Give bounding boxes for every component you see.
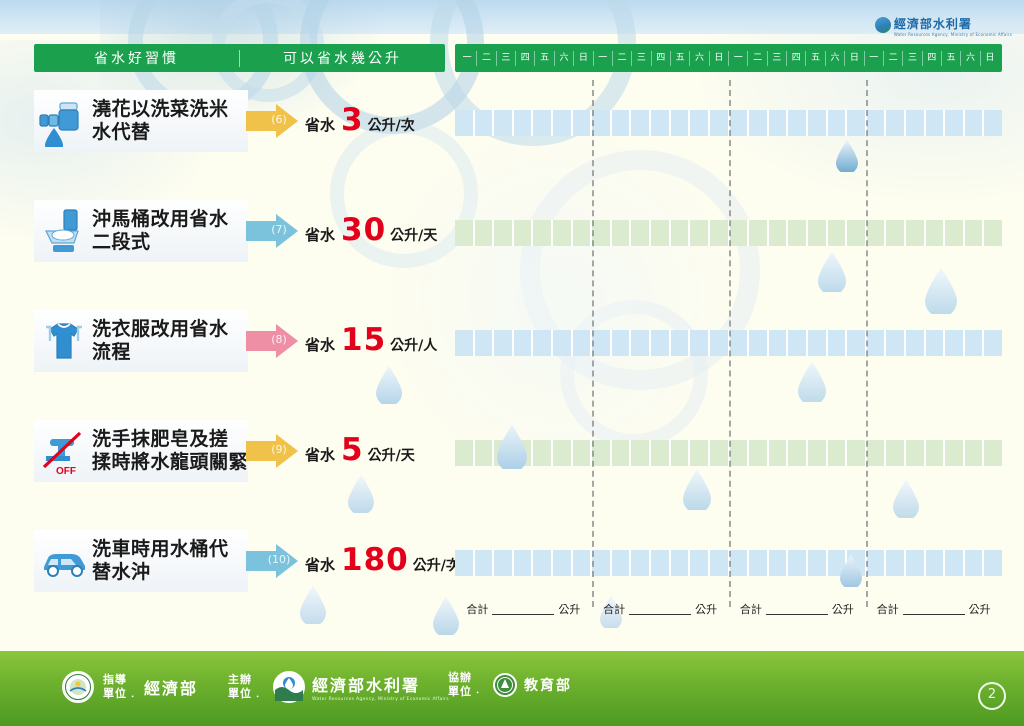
calendar-day-cell[interactable] (730, 330, 750, 356)
calendar-day-cell[interactable] (690, 110, 710, 136)
saving-label: 省水 (305, 224, 335, 245)
footer-separator: ． (255, 685, 266, 703)
total-label: 合計 (603, 601, 625, 617)
calendar-day-cell[interactable] (769, 110, 789, 136)
habit-item-label: 澆花以洗菜洗米水代替 (92, 98, 229, 144)
calendar-day-cell[interactable] (749, 550, 769, 576)
calendar-day-cell[interactable] (514, 330, 534, 356)
header-col-habit: 省水好習慣 (34, 48, 239, 68)
total-field: 合計公升 (865, 598, 1002, 620)
wra-logo: 經濟部水利署 Water Resources Agency, Ministry … (875, 14, 1012, 36)
calendar-day-cell[interactable] (573, 440, 593, 466)
calendar-weekday-label: 四 (923, 51, 942, 66)
toilet-icon (38, 205, 90, 257)
calendar-day-cell[interactable] (671, 110, 691, 136)
calendar-day-cell[interactable] (847, 440, 867, 466)
calendar-day-cell[interactable] (906, 110, 926, 136)
total-input-line[interactable] (903, 604, 965, 615)
habit-item-label-line2: 替水沖 (92, 561, 229, 584)
page-footer: 指導 單位 ． 經濟部 主辦 單位 ． 經濟部水利署 (0, 651, 1024, 726)
calendar-weekday-label: 五 (535, 51, 554, 66)
calendar-day-cell[interactable] (455, 110, 475, 136)
calendar-day-cell[interactable] (906, 220, 926, 246)
footer-org-moe: 教育部 (524, 675, 572, 695)
calendar-day-cell[interactable] (573, 330, 593, 356)
faucet-off-icon: OFF (38, 425, 90, 477)
tshirt-laundry-icon (38, 315, 90, 367)
calendar-day-cell[interactable] (906, 330, 926, 356)
calendar-day-cell[interactable] (906, 550, 926, 576)
calendar-day-cell[interactable] (671, 550, 691, 576)
calendar-day-cell[interactable] (808, 110, 828, 136)
calendar-day-cell[interactable] (788, 330, 808, 356)
calendar-day-cell[interactable] (965, 440, 985, 466)
habit-item-label: 洗手抹肥皂及搓揉時將水龍頭關緊 (92, 428, 248, 474)
week-separator-1 (592, 80, 594, 607)
calendar-day-cell[interactable] (867, 550, 887, 576)
calendar-weekday-label: 三 (768, 51, 787, 66)
moea-seal-icon (62, 671, 94, 703)
saving-unit: 公升/次 (413, 555, 460, 575)
calendar-day-cell[interactable] (553, 550, 573, 576)
calendar-day-cell[interactable] (847, 220, 867, 246)
calendar-day-cell[interactable] (886, 550, 906, 576)
calendar-day-cell[interactable] (926, 220, 946, 246)
habit-item-label: 洗衣服改用省水流程 (92, 318, 229, 364)
calendar-day-cell[interactable] (455, 220, 475, 246)
calendar-day-cell[interactable] (730, 110, 750, 136)
calendar-weekday-label: 日 (845, 51, 864, 66)
table-header-left: 省水好習慣 可以省水幾公升 (34, 44, 445, 72)
calendar-day-cell[interactable] (945, 440, 965, 466)
calendar-day-cell[interactable] (475, 550, 495, 576)
calendar-day-cell[interactable] (494, 220, 514, 246)
saving-value: 30 (341, 212, 386, 248)
footer-role-line1: 主辦 (228, 673, 252, 687)
calendar-day-cell[interactable] (867, 440, 887, 466)
calendar-day-cell[interactable] (631, 550, 651, 576)
calendar-day-cell[interactable] (671, 440, 691, 466)
calendar-day-cell[interactable] (533, 440, 553, 466)
calendar-day-cell[interactable] (965, 220, 985, 246)
saving-label: 省水 (305, 334, 335, 355)
calendar-day-cell[interactable] (631, 110, 651, 136)
total-input-line[interactable] (766, 604, 828, 615)
calendar-day-cell[interactable] (788, 440, 808, 466)
footer-org-wra: 經濟部水利署 (312, 672, 449, 696)
calendar-day-cell[interactable] (573, 110, 593, 136)
calendar-weekday-label: 三 (497, 51, 516, 66)
calendar-day-cell[interactable] (651, 550, 671, 576)
calendar-weekday-label: 二 (477, 51, 496, 66)
wra-seal-icon (273, 671, 305, 703)
calendar-day-cell[interactable] (671, 220, 691, 246)
calendar-day-cell[interactable] (867, 330, 887, 356)
page-canvas: 省水好習慣 可以省水幾公升 一二三四五六日一二三四五六日一二三四五六日一二三四五… (0, 0, 1024, 726)
calendar-day-cell[interactable] (651, 220, 671, 246)
saving-value: 15 (341, 322, 386, 358)
calendar-day-cell[interactable] (886, 110, 906, 136)
calendar-day-cell[interactable] (553, 110, 573, 136)
saving-unit: 公升/次 (368, 115, 415, 135)
calendar-day-cell[interactable] (730, 550, 750, 576)
footer-role-line2: 單位 (103, 687, 127, 701)
calendar-day-cell[interactable] (886, 220, 906, 246)
calendar-weekday-label: 一 (458, 51, 477, 66)
footer-group-host: 主辦 單位 ． 經濟部水利署 Water Resources Agency, M… (228, 671, 449, 703)
saving-amount: 省水180公升/次 (305, 542, 460, 580)
calendar-day-cell[interactable] (533, 550, 553, 576)
habit-arrow: (6) (246, 104, 298, 138)
calendar-day-cell[interactable] (828, 440, 848, 466)
calendar-day-cell[interactable] (769, 220, 789, 246)
calendar-day-cell[interactable] (926, 110, 946, 136)
calendar-day-cell[interactable] (592, 110, 612, 136)
footer-role-line2: 單位 (448, 685, 472, 699)
habit-item-box: 洗車時用水桶代替水沖 (34, 530, 248, 592)
habit-item-label-line1: 沖馬桶改用省水 (92, 208, 229, 231)
total-field: 合計公升 (455, 598, 592, 620)
footer-role-line1: 指導 (103, 673, 127, 687)
footer-group-coorg: 協辦 單位 ． 教育部 (448, 671, 572, 699)
habit-index-number: (8) (262, 333, 296, 346)
calendar-weekday-label: 日 (574, 51, 593, 66)
calendar-day-cell[interactable] (612, 550, 632, 576)
calendar-day-cell[interactable] (926, 330, 946, 356)
calendar-day-cell[interactable] (651, 110, 671, 136)
calendar-day-cell[interactable] (514, 550, 534, 576)
habit-item-label-line2: 流程 (92, 341, 229, 364)
calendar-day-cell[interactable] (475, 330, 495, 356)
calendar-weekday-label: 日 (710, 51, 729, 66)
calendar-day-cell[interactable] (945, 550, 965, 576)
calendar-weekday-label: 日 (981, 51, 999, 66)
calendar-day-cell[interactable] (631, 330, 651, 356)
total-unit: 公升 (969, 601, 991, 617)
calendar-day-cell[interactable] (475, 440, 495, 466)
footer-group-guidance: 指導 單位 ． 經濟部 (62, 671, 198, 703)
calendar-weekday-label: 五 (671, 51, 690, 66)
calendar-day-cell[interactable] (494, 110, 514, 136)
week-separator-3 (866, 80, 868, 607)
calendar-day-cell[interactable] (612, 220, 632, 246)
habit-item-label-line1: 洗車時用水桶代 (92, 538, 229, 561)
calendar-day-cell[interactable] (984, 550, 1002, 576)
calendar-day-cell[interactable] (612, 440, 632, 466)
calendar-weekday-label: 六 (690, 51, 709, 66)
calendar-day-cell[interactable] (788, 550, 808, 576)
calendar-day-cell[interactable] (553, 330, 573, 356)
habit-item-label: 洗車時用水桶代替水沖 (92, 538, 229, 584)
calendar-day-cell[interactable] (533, 110, 553, 136)
calendar-day-cell[interactable] (475, 110, 495, 136)
calendar-day-cell[interactable] (612, 330, 632, 356)
calendar-day-cell[interactable] (984, 440, 1002, 466)
habit-row: OFF洗手抹肥皂及搓揉時將水龍頭關緊(9)省水5公升/天 (0, 410, 1024, 520)
header-col-amount: 可以省水幾公升 (240, 48, 445, 68)
calendar-day-cell[interactable] (533, 220, 553, 246)
calendar-day-cell[interactable] (631, 440, 651, 466)
calendar-day-cell[interactable] (690, 220, 710, 246)
calendar-day-cell[interactable] (984, 110, 1002, 136)
moe-seal-icon (493, 673, 517, 697)
footer-separator: ． (130, 685, 141, 703)
footer-role-line1: 協辦 (448, 671, 472, 685)
calendar-day-cell[interactable] (788, 110, 808, 136)
calendar-day-cell[interactable] (651, 440, 671, 466)
calendar-day-cell[interactable] (592, 330, 612, 356)
calendar-day-cell[interactable] (710, 440, 730, 466)
calendar-day-cell[interactable] (788, 220, 808, 246)
total-unit: 公升 (558, 601, 580, 617)
calendar-day-cell[interactable] (965, 110, 985, 136)
total-label: 合計 (466, 601, 488, 617)
calendar-day-cell[interactable] (592, 220, 612, 246)
calendar-day-cell[interactable] (592, 550, 612, 576)
total-unit: 公升 (695, 601, 717, 617)
habit-item-label-line1: 洗手抹肥皂及搓 (92, 428, 248, 451)
calendar-day-cell[interactable] (847, 110, 867, 136)
calendar-day-cell[interactable] (847, 550, 867, 576)
calendar-day-cell[interactable] (612, 110, 632, 136)
calendar-day-cell[interactable] (710, 110, 730, 136)
calendar-weekday-label: 四 (516, 51, 535, 66)
footer-org-moea: 經濟部 (144, 675, 198, 699)
calendar-day-cell[interactable] (494, 550, 514, 576)
calendar-day-cell[interactable] (749, 220, 769, 246)
calendar-day-cell[interactable] (553, 440, 573, 466)
calendar-header: 一二三四五六日一二三四五六日一二三四五六日一二三四五六日 (455, 44, 1002, 72)
calendar-day-cell[interactable] (730, 220, 750, 246)
calendar-day-cell[interactable] (886, 440, 906, 466)
calendar-day-cell[interactable] (828, 330, 848, 356)
calendar-day-cell[interactable] (749, 330, 769, 356)
saving-unit: 公升/天 (368, 445, 415, 465)
saving-value: 180 (341, 542, 409, 578)
svg-text:OFF: OFF (56, 466, 76, 477)
habit-item-box: 洗衣服改用省水流程 (34, 310, 248, 372)
calendar-day-cell[interactable] (514, 110, 534, 136)
habit-item-box: 澆花以洗菜洗米水代替 (34, 90, 248, 152)
calendar-day-cell[interactable] (847, 330, 867, 356)
page-number: 2 (978, 682, 1006, 710)
calendar-day-cell[interactable] (455, 330, 475, 356)
habit-index-number: (9) (262, 443, 296, 456)
saving-label: 省水 (305, 554, 335, 575)
calendar-day-cell[interactable] (631, 220, 651, 246)
total-input-line[interactable] (492, 604, 554, 615)
calendar-day-cell[interactable] (749, 110, 769, 136)
habit-arrow: (9) (246, 434, 298, 468)
calendar-weekday-label: 六 (826, 51, 845, 66)
habit-item-label-line2: 水代替 (92, 121, 229, 144)
habit-index-number: (10) (262, 553, 296, 566)
total-label: 合計 (877, 601, 899, 617)
calendar-weekday-label: 四 (652, 51, 671, 66)
calendar-day-cell[interactable] (808, 330, 828, 356)
habit-item-box: OFF洗手抹肥皂及搓揉時將水龍頭關緊 (34, 420, 248, 482)
footer-role-line2: 單位 (228, 687, 252, 701)
calendar-day-cell[interactable] (553, 220, 573, 246)
footer-separator: ． (475, 681, 486, 699)
total-input-line[interactable] (629, 604, 691, 615)
total-label: 合計 (740, 601, 762, 617)
calendar-day-cell[interactable] (984, 220, 1002, 246)
calendar-day-cell[interactable] (494, 440, 514, 466)
calendar-weekday-label: 二 (613, 51, 632, 66)
calendar-weekday-label: 四 (787, 51, 806, 66)
calendar-day-cell[interactable] (494, 330, 514, 356)
calendar-day-cell[interactable] (769, 330, 789, 356)
habit-arrow: (8) (246, 324, 298, 358)
calendar-day-cell[interactable] (945, 330, 965, 356)
calendar-day-cell[interactable] (455, 440, 475, 466)
calendar-day-cell[interactable] (828, 550, 848, 576)
calendar-day-cell[interactable] (867, 110, 887, 136)
saving-value: 3 (341, 102, 364, 138)
calendar-day-cell[interactable] (749, 440, 769, 466)
total-field: 合計公升 (729, 598, 866, 620)
total-field: 合計公升 (592, 598, 729, 620)
calendar-day-cell[interactable] (867, 220, 887, 246)
habit-row: 沖馬桶改用省水二段式(7)省水30公升/天 (0, 190, 1024, 300)
calendar-weekday-label: 五 (806, 51, 825, 66)
car-wash-icon (38, 535, 90, 587)
calendar-weekday-label: 六 (961, 51, 980, 66)
saving-amount: 省水30公升/天 (305, 212, 437, 250)
habit-index-number: (6) (262, 113, 296, 126)
calendar-day-cell[interactable] (965, 550, 985, 576)
calendar-day-cell[interactable] (514, 440, 534, 466)
habit-item-label-line1: 澆花以洗菜洗米 (92, 98, 229, 121)
week-separator-2 (729, 80, 731, 607)
calendar-day-cell[interactable] (945, 220, 965, 246)
calendar-day-cell[interactable] (651, 330, 671, 356)
calendar-day-cell[interactable] (592, 440, 612, 466)
habit-row: 洗衣服改用省水流程(8)省水15公升/人 (0, 300, 1024, 410)
calendar-weekday-label: 一 (729, 51, 748, 66)
calendar-day-cell[interactable] (808, 440, 828, 466)
saving-amount: 省水15公升/人 (305, 322, 437, 360)
calendar-weekday-label: 三 (903, 51, 922, 66)
calendar-day-cell[interactable] (965, 330, 985, 356)
saving-unit: 公升/天 (390, 225, 437, 245)
habit-arrow: (10) (246, 544, 298, 578)
wra-droplet-icon (875, 17, 891, 33)
calendar-day-cell[interactable] (671, 330, 691, 356)
calendar-day-cell[interactable] (828, 220, 848, 246)
calendar-day-cell[interactable] (926, 550, 946, 576)
saving-label: 省水 (305, 444, 335, 465)
calendar-day-cell[interactable] (573, 220, 593, 246)
calendar-day-cell[interactable] (984, 330, 1002, 356)
footer-role-host: 主辦 單位 (228, 673, 252, 701)
calendar-day-cell[interactable] (710, 550, 730, 576)
calendar-day-cell[interactable] (808, 550, 828, 576)
calendar-day-cell[interactable] (769, 550, 789, 576)
calendar-day-cell[interactable] (573, 550, 593, 576)
saving-label: 省水 (305, 114, 335, 135)
calendar-day-cell[interactable] (808, 220, 828, 246)
calendar-day-cell[interactable] (710, 220, 730, 246)
calendar-day-cell[interactable] (533, 330, 553, 356)
calendar-day-cell[interactable] (886, 330, 906, 356)
wra-logo-subtext: Water Resources Agency, Ministry of Econ… (894, 32, 1012, 37)
calendar-day-cell[interactable] (690, 330, 710, 356)
totals-row: 合計公升合計公升合計公升合計公升 (455, 598, 1002, 620)
habit-item-box: 沖馬桶改用省水二段式 (34, 200, 248, 262)
habit-item-label: 沖馬桶改用省水二段式 (92, 208, 229, 254)
saving-value: 5 (341, 432, 364, 468)
habit-item-label-line1: 洗衣服改用省水 (92, 318, 229, 341)
calendar-day-cell[interactable] (710, 330, 730, 356)
calendar-day-cell[interactable] (514, 220, 534, 246)
calendar-weekday-label: 一 (594, 51, 613, 66)
wra-logo-text: 經濟部水利署 (894, 17, 972, 31)
calendar-day-cell[interactable] (926, 440, 946, 466)
habit-arrow: (7) (246, 214, 298, 248)
habit-item-label-line2: 揉時將水龍頭關緊 (92, 451, 248, 474)
calendar-day-cell[interactable] (690, 550, 710, 576)
calendar-day-cell[interactable] (769, 440, 789, 466)
calendar-weekday-label: 二 (748, 51, 767, 66)
calendar-weekday-label: 五 (942, 51, 961, 66)
watering-bucket-icon (38, 95, 90, 147)
calendar-weekday-label: 二 (884, 51, 903, 66)
habit-row: 澆花以洗菜洗米水代替(6)省水3公升/次 (0, 80, 1024, 190)
calendar-day-cell[interactable] (475, 220, 495, 246)
habit-item-label-line2: 二段式 (92, 231, 229, 254)
saving-amount: 省水3公升/次 (305, 102, 415, 140)
calendar-weekday-label: 六 (555, 51, 574, 66)
habit-index-number: (7) (262, 223, 296, 236)
calendar-day-cell[interactable] (906, 440, 926, 466)
saving-unit: 公升/人 (390, 335, 437, 355)
calendar-day-cell[interactable] (730, 440, 750, 466)
calendar-day-cell[interactable] (455, 550, 475, 576)
calendar-weekday-label: 三 (632, 51, 651, 66)
calendar-day-cell[interactable] (690, 440, 710, 466)
footer-role-guidance: 指導 單位 (103, 673, 127, 701)
total-unit: 公升 (832, 601, 854, 617)
footer-org-wra-subtext: Water Resources Agency, Ministry of Econ… (312, 697, 449, 702)
calendar-day-cell[interactable] (828, 110, 848, 136)
calendar-weekday-label: 一 (865, 51, 884, 66)
calendar-day-cell[interactable] (945, 110, 965, 136)
footer-role-coorg: 協辦 單位 (448, 671, 472, 699)
saving-amount: 省水5公升/天 (305, 432, 415, 470)
